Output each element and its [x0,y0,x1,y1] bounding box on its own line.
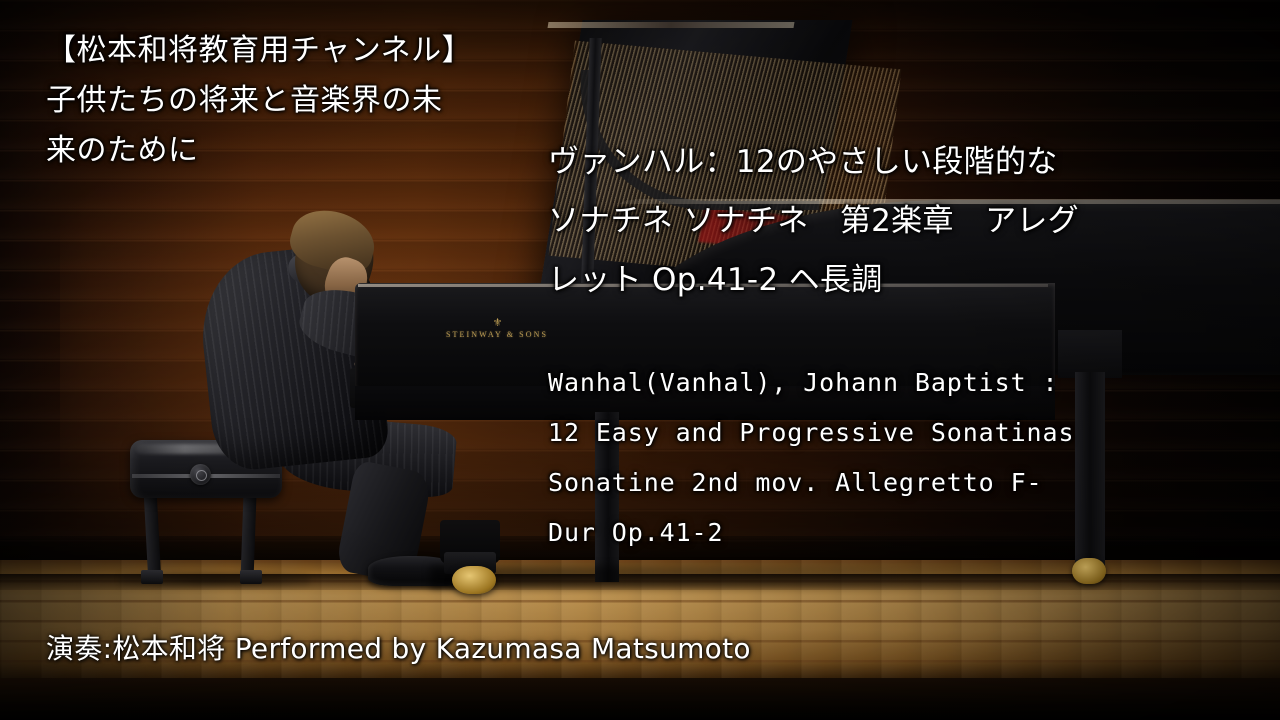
piano-caster-center-icon [452,566,496,594]
steinway-logo: STEINWAY & SONS [432,330,562,339]
channel-banner-text: 【松本和将教育用チャンネル】 子供たちの将来と音楽界の未 来のために [46,26,546,176]
piano-lid-edge-highlight [548,22,795,28]
bench-foot-right [240,570,262,584]
video-frame: ⚜ STEINWAY & SONS 【松本和将教育用チャンネル】 子供たちの将来… [0,0,1280,720]
piece-title-english: Wanhal(Vanhal), Johann Baptist : 12 Easy… [548,358,1248,558]
stage-apron [0,678,1280,720]
steinway-lyre-emblem-icon: ⚜ [492,318,503,330]
piano-caster-right-icon [1072,558,1106,584]
performer-credit: 演奏:松本和将 Performed by Kazumasa Matsumoto [46,631,751,667]
bench-adjust-knob [190,464,211,485]
piano-floor-shadow [430,566,1130,588]
bench-foot-left [141,570,163,584]
piece-title-japanese: ヴァンハル：12のやさしい段階的な ソナチネ ソナチネ 第2楽章 アレグ レット… [548,133,1248,310]
